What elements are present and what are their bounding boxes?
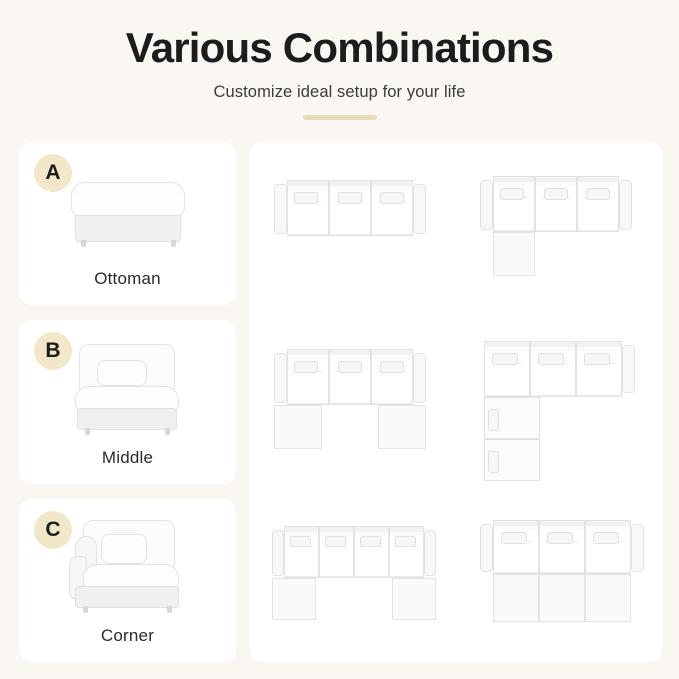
- part-card-middle[interactable]: B Middle: [19, 320, 236, 483]
- page-title: Various Combinations: [0, 24, 679, 72]
- part-card-corner[interactable]: C Corner: [19, 499, 236, 662]
- part-label-middle: Middle: [19, 448, 236, 468]
- combinations-panel: [250, 142, 662, 662]
- page-header: Various Combinations Customize ideal set…: [0, 24, 679, 120]
- parts-list: A Ottoman B Middle C: [19, 142, 236, 662]
- combo-three-seat-sofa-with-chaise[interactable]: [456, 142, 662, 315]
- combo-four-seat-sofa-with-two-ottomans[interactable]: [250, 489, 456, 662]
- part-badge-a: A: [34, 154, 72, 192]
- combo-large-l-shaped-sectional[interactable]: [456, 315, 662, 488]
- part-badge-c: C: [34, 511, 72, 549]
- combo-three-seat-sofa-with-daybed-extension[interactable]: [456, 489, 662, 662]
- combinations-grid: [250, 142, 662, 662]
- part-label-ottoman: Ottoman: [19, 269, 236, 289]
- part-card-ottoman[interactable]: A Ottoman: [19, 142, 236, 305]
- combo-three-seat-sofa-with-two-ottomans[interactable]: [250, 315, 456, 488]
- page-subtitle: Customize ideal setup for your life: [0, 83, 679, 102]
- combo-three-seat-sofa[interactable]: [250, 142, 456, 315]
- part-label-corner: Corner: [19, 626, 236, 646]
- title-accent-underline: [303, 115, 377, 120]
